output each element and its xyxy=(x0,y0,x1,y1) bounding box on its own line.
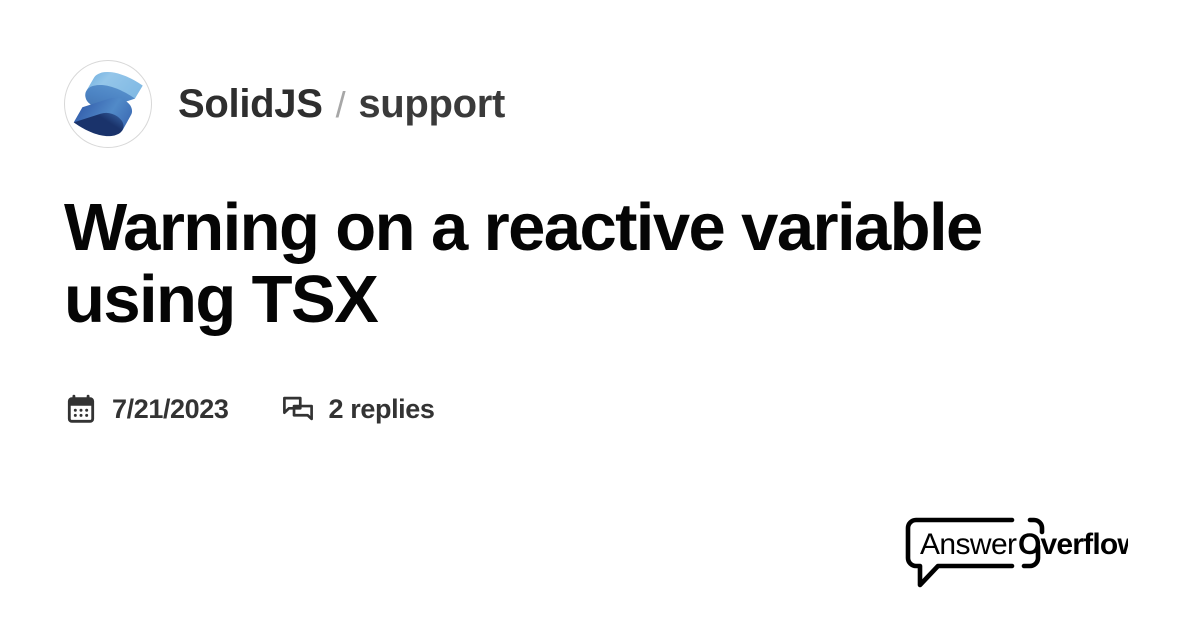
server-avatar[interactable] xyxy=(64,60,152,148)
solidjs-logo-icon xyxy=(72,68,144,140)
svg-text:Overflow: Overflow xyxy=(1018,528,1128,561)
replies-value: 2 replies xyxy=(329,394,435,425)
breadcrumb: SolidJS / support xyxy=(178,82,505,127)
meta-row: 7/21/2023 2 replies xyxy=(64,393,1136,427)
replies-icon xyxy=(281,393,315,427)
calendar-icon xyxy=(64,393,98,427)
og-card: SolidJS / support Warning on a reactive … xyxy=(0,0,1200,630)
answer-overflow-logo[interactable]: Answer Overflow xyxy=(902,516,1128,588)
card-header: SolidJS / support xyxy=(64,56,1136,152)
date-value: 7/21/2023 xyxy=(112,394,229,425)
answer-overflow-logo-icon: Answer Overflow xyxy=(902,516,1128,588)
page-title: Warning on a reactive variable using TSX xyxy=(64,192,1136,337)
breadcrumb-channel[interactable]: support xyxy=(358,82,505,127)
svg-text:Answer: Answer xyxy=(920,528,1017,561)
meta-date: 7/21/2023 xyxy=(64,393,229,427)
breadcrumb-separator: / xyxy=(336,84,346,126)
breadcrumb-server[interactable]: SolidJS xyxy=(178,82,323,127)
meta-replies: 2 replies xyxy=(281,393,435,427)
